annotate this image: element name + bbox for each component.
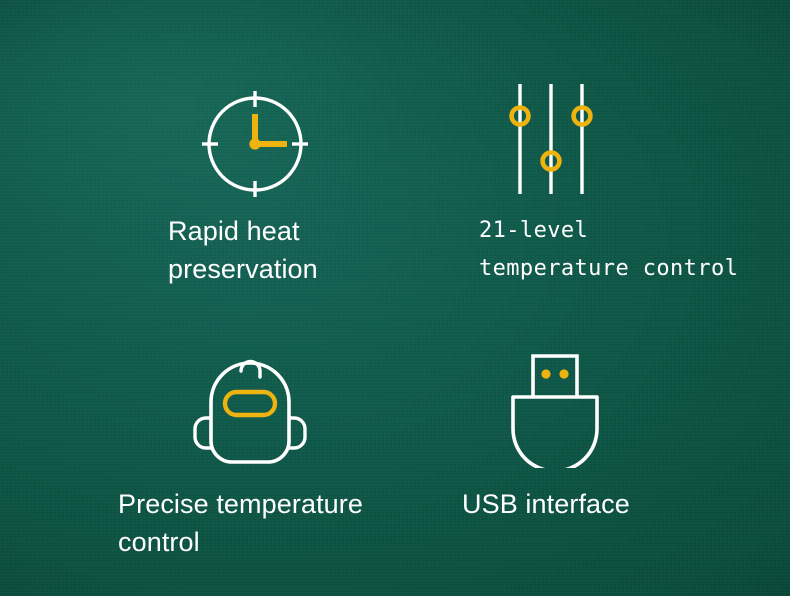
clock-icon	[199, 88, 311, 200]
feature-caption-rapid-heat: Rapid heat preservation	[168, 212, 448, 289]
features-grid: Rapid heat preservation 21-level tempera…	[0, 0, 790, 596]
feature-caption-21-level: 21-level temperature control	[479, 212, 790, 288]
feature-card-precise-temp: Precise temperature control	[100, 340, 430, 570]
sliders-icon	[502, 80, 612, 198]
feature-caption-usb: USB interface	[462, 485, 762, 523]
backpack-icon	[192, 350, 308, 468]
feature-caption-precise-temp: Precise temperature control	[118, 485, 438, 562]
feature-card-usb: USB interface	[450, 340, 780, 570]
feature-banner: Rapid heat preservation 21-level tempera…	[0, 0, 790, 596]
feature-card-rapid-heat: Rapid heat preservation	[150, 72, 450, 312]
feature-card-21-level: 21-level temperature control	[470, 72, 780, 312]
usb-drive-icon	[502, 350, 608, 468]
